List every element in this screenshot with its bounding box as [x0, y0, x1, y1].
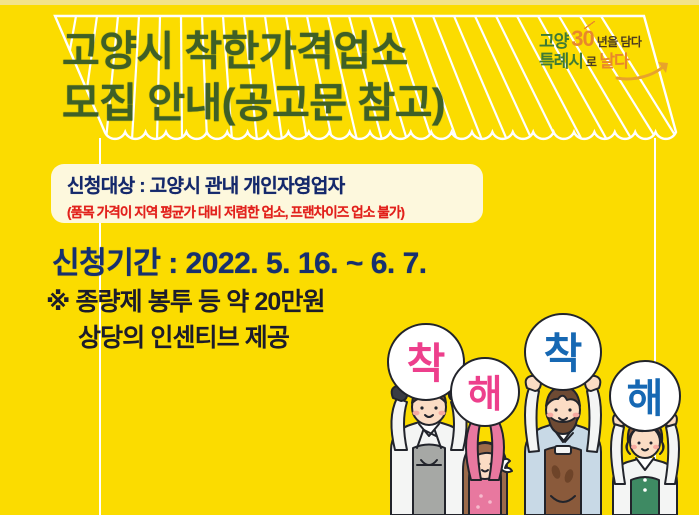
logo-teukryesi-text: 특례시: [539, 53, 583, 70]
sign-text-4: 해: [627, 377, 664, 421]
person-bearded-man-barista: 착: [525, 314, 601, 515]
logo-swoosh-arrow-icon: [615, 60, 675, 82]
incentive-note: ※ 종량제 봉투 등 약 20만원 상당의 인센티브 제공: [46, 285, 325, 356]
eligibility-note-text: (품목 가격이 지역 평균가 대비 저렴한 업소, 프랜차이즈 업소 불가): [67, 201, 483, 221]
application-period-text: 신청기간 : 2022. 5. 16. ~ 6. 7.: [52, 238, 427, 282]
title-line-1: 고양시 착한가격업소: [62, 26, 445, 78]
eligibility-target-text: 신청대상 : 고양시 관내 개인자영업자: [67, 171, 483, 198]
logo-row-top: 고양 30 년을 담다: [539, 28, 671, 50]
logo-goyang-text: 고양: [539, 33, 568, 50]
incentive-line-1: ※ 종량제 봉투 등 약 20만원: [46, 285, 325, 321]
poster-root: 고양시 착한가격업소 모집 안내(공고문 참고) 고양 30 년을 담다 특례시…: [0, 0, 699, 515]
eligibility-info-box: 신청대상 : 고양시 관내 개인자영업자 (품목 가격이 지역 평균가 대비 저…: [51, 164, 483, 223]
incentive-line-2: 상당의 인센티브 제공: [46, 321, 325, 357]
sign-text-1: 착: [407, 340, 446, 387]
goyang-city-logo: 고양 30 년을 담다 특례시 로 날다: [539, 28, 671, 70]
person-man-gray-apron: 착: [388, 324, 467, 515]
sign-text-3: 착: [544, 330, 583, 377]
logo-thirty-text: 30: [571, 28, 593, 50]
people-holding-signs-illustration: 착: [369, 300, 699, 515]
logo-suffix-text: 년을 담다: [597, 36, 642, 50]
logo-ro-text: 로: [586, 56, 596, 70]
title-line-2: 모집 안내(공고문 참고): [62, 78, 445, 130]
sign-text-2: 해: [468, 374, 503, 416]
person-woman-green-apron: 해: [610, 361, 680, 515]
page-title: 고양시 착한가격업소 모집 안내(공고문 참고): [62, 26, 445, 129]
top-border-strip: [0, 0, 699, 5]
